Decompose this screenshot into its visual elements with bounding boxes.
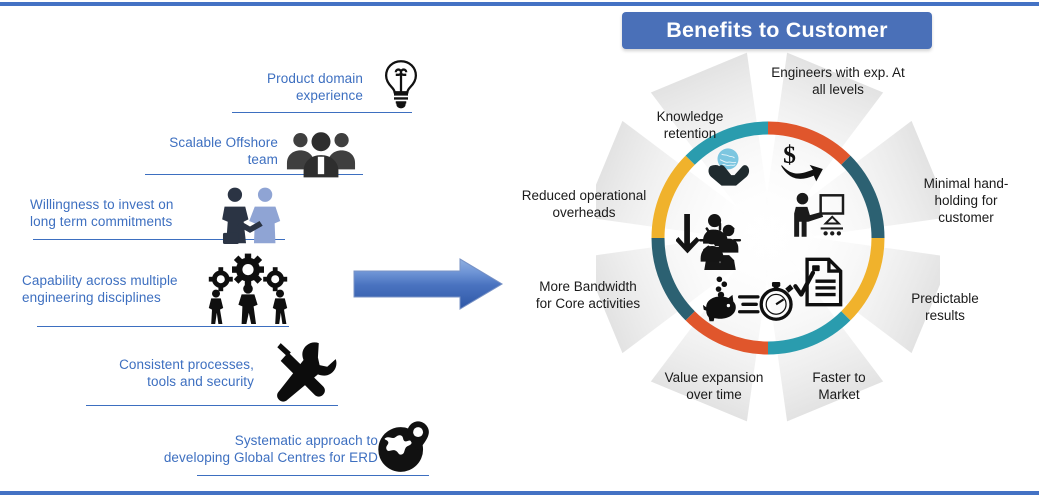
ring-label-knowledge-retention: Knowledge retention	[634, 108, 746, 142]
team-group-icon	[283, 126, 359, 183]
wrench-screwdriver-icon	[265, 338, 337, 409]
piggy-bank-icon	[702, 276, 740, 327]
ring-label-reduced-overheads: Reduced operational overheads	[508, 187, 660, 221]
capability-label: Scalable Offshore team	[140, 134, 278, 168]
stopwatch-icon	[738, 280, 796, 327]
brain-in-hands-icon	[705, 146, 751, 193]
capability-label: Product domain experience	[228, 70, 363, 104]
bottom-accent-rule	[0, 491, 1039, 495]
capability-label: Willingness to invest on long term commi…	[30, 196, 190, 230]
globe-location-icon	[374, 418, 434, 481]
ring-label-more-bandwidth: More Bandwidth for Core activities	[520, 278, 656, 312]
top-accent-rule	[0, 2, 1039, 6]
lightbulb-icon	[373, 56, 429, 117]
ring-label-engineers-exp: Engineers with exp. At all levels	[755, 64, 921, 98]
capability-label: Consistent processes, tools and security	[96, 356, 254, 390]
headcount-down-icon	[676, 212, 740, 267]
svg-text:$: $	[783, 140, 796, 169]
benefits-banner: Benefits to Customer	[622, 12, 932, 49]
ring-label-minimal-handholding: Minimal hand- holding for customer	[904, 175, 1028, 226]
capability-label: Capability across multiple engineering d…	[22, 272, 198, 306]
trainer-presentation-icon	[792, 192, 846, 245]
capability-label: Systematic approach to developing Global…	[152, 432, 378, 466]
ring-label-predictable-results: Predictable results	[890, 290, 1000, 324]
document-check-icon	[792, 256, 844, 313]
right-arrow-icon	[352, 257, 504, 313]
ring-label-value-expansion: Value expansion over time	[650, 369, 778, 403]
handshake-icon	[214, 186, 286, 253]
slide-canvas: Product domain experience Scalable Offsh…	[0, 0, 1039, 500]
gears-teamwork-icon	[203, 252, 293, 329]
dollar-down-arrow-icon: $	[778, 140, 828, 193]
ring-inner-icons: $	[650, 120, 886, 356]
ring-label-faster-to-market: Faster to Market	[790, 369, 888, 403]
banner-title: Benefits to Customer	[622, 12, 932, 49]
